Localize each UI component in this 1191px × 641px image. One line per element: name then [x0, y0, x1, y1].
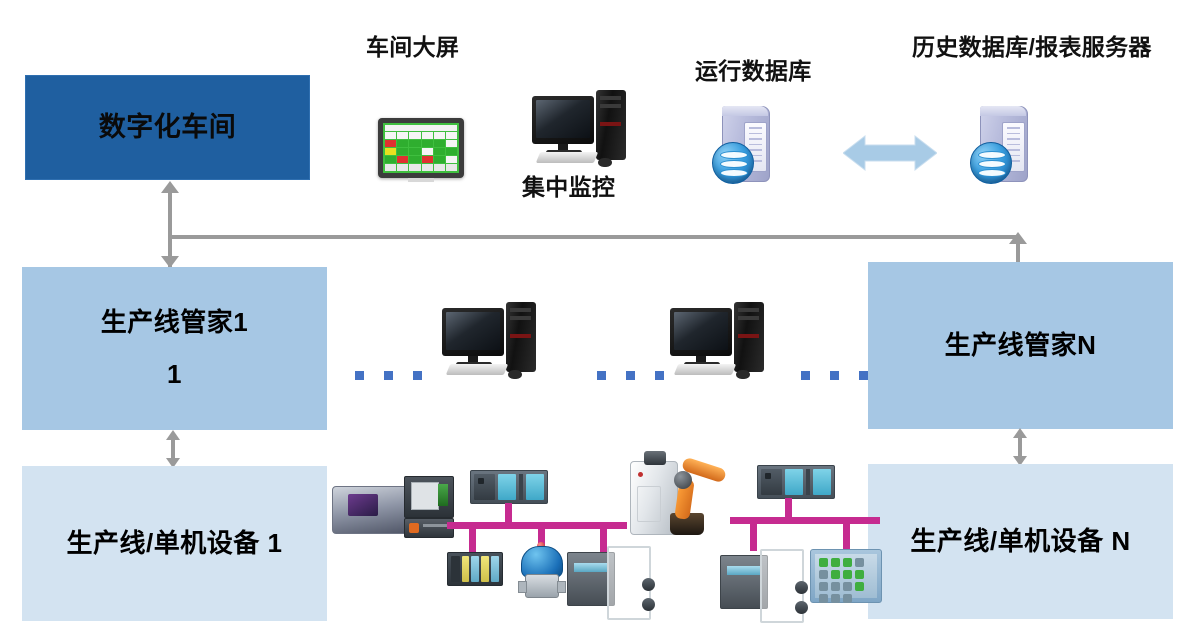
monitor-screen — [536, 100, 590, 138]
line1-label: 生产线/单机设备 1 — [67, 525, 283, 563]
box-production-line-n[interactable]: 生产线/单机设备 N — [868, 464, 1173, 619]
plc-io-module-2 — [526, 474, 544, 500]
plc-controller-icon-left — [470, 470, 548, 504]
label-central-monitor: 集中监控 — [522, 168, 615, 202]
arrowhead-up-managerN — [1009, 232, 1027, 244]
bidirectional-arrow-icon — [843, 132, 937, 174]
keyboard — [674, 364, 736, 375]
hmi-screen-surface — [383, 123, 459, 173]
pc-tower-accent — [510, 334, 531, 338]
plc-controller-icon-right — [757, 465, 835, 499]
box-production-line-1[interactable]: 生产线/单机设备 1 — [22, 466, 327, 621]
box-production-line-manager-1[interactable]: 生产线管家1 1 — [22, 267, 327, 430]
hmi-title-bar — [385, 125, 457, 131]
pc-tower-slot-1 — [600, 96, 621, 100]
cnc-control-unit — [404, 476, 454, 518]
motor-drive-icon-right — [720, 549, 802, 621]
bus-drop-drive — [750, 517, 757, 551]
database-server-icon-runtime — [712, 102, 782, 188]
diagram-canvas: 车间大屏 运行数据库 历史数据库/报表服务器 集中监控 数字化车间 — [0, 0, 1191, 641]
plc-divider — [519, 474, 523, 500]
pc-tower-slot-2 — [600, 104, 621, 108]
box-production-line-manager-n[interactable]: 生产线管家N — [868, 262, 1173, 429]
pc-tower-slot-1 — [510, 308, 531, 312]
backbone-horizontal-line — [170, 235, 1020, 239]
hmi-panel-icon — [378, 118, 464, 178]
ellipsis-dots-left — [355, 371, 422, 380]
monitor-screen — [674, 312, 728, 350]
hmi-footer-row — [385, 164, 457, 171]
hmi-stand — [408, 178, 434, 182]
server-top — [722, 106, 768, 116]
ellipsis-dots-middle — [597, 371, 664, 380]
fieldbus-network-right — [745, 465, 905, 605]
motor-drive-icon-left — [567, 546, 649, 618]
hmi-header-row — [385, 132, 457, 139]
industrial-robot-icon — [630, 455, 740, 541]
pc-tower-slot-2 — [510, 316, 531, 320]
hmi-data-row-1 — [385, 140, 457, 147]
plc-io-module-1 — [785, 469, 803, 495]
keyboard — [536, 152, 598, 163]
robot-enclosure-top — [644, 451, 666, 465]
mouse — [598, 158, 612, 167]
plc-io-module-2 — [813, 469, 831, 495]
bus-drop-operator-panel — [843, 517, 850, 551]
database-server-icon-history — [970, 102, 1040, 188]
desktop-computer-icon-monitoring — [530, 88, 640, 166]
lineN-label: 生产线/单机设备 N — [910, 523, 1130, 561]
pressure-transmitter-icon — [513, 546, 569, 598]
desktop-computer-icon-line-1 — [440, 300, 550, 378]
hmi-data-row-3 — [385, 156, 457, 163]
cnc-lathe-icon — [332, 470, 454, 540]
drive-frame — [607, 546, 651, 620]
plc-cpu-module — [474, 474, 495, 500]
pc-tower-accent — [738, 334, 759, 338]
plc-io-module-1 — [498, 474, 516, 500]
arrowhead-up-manager1-line1 — [166, 430, 180, 440]
plc-cpu-module — [761, 469, 782, 495]
pc-tower-slot-2 — [738, 316, 759, 320]
cnc-viewing-window — [348, 494, 378, 516]
desktop-computer-icon-line-n — [668, 300, 778, 378]
managerN-label: 生产线管家N — [945, 327, 1097, 365]
pc-tower-accent — [600, 122, 621, 126]
database-cylinder — [712, 142, 754, 184]
arrowhead-up-workshop — [161, 181, 179, 193]
mouse — [736, 370, 750, 379]
arrowhead-up-managerN-lineN — [1013, 428, 1027, 438]
database-cylinder — [970, 142, 1012, 184]
keyboard — [446, 364, 508, 375]
ellipsis-dots-right — [801, 371, 868, 380]
manager1-label-sub: 1 — [167, 356, 182, 394]
hmi-data-row-2 — [385, 148, 457, 155]
box-digital-workshop[interactable]: 数字化车间 — [25, 75, 310, 180]
drive-frame — [760, 549, 804, 623]
operator-panel-icon — [810, 549, 882, 603]
box-digital-workshop-label: 数字化车间 — [99, 108, 237, 147]
operator-panel-screen — [815, 554, 877, 598]
server-top — [980, 106, 1026, 116]
label-history-db: 历史数据库/报表服务器 — [912, 28, 1152, 62]
label-runtime-db: 运行数据库 — [695, 52, 812, 86]
label-hmi-screen: 车间大屏 — [366, 28, 459, 62]
manager1-label-main: 生产线管家1 — [101, 304, 248, 342]
io-module-icon — [447, 552, 503, 586]
plc-divider — [806, 469, 810, 495]
bus-drop-io — [469, 522, 476, 554]
transmitter-flange — [525, 574, 559, 598]
mouse — [508, 370, 522, 379]
robot-joint — [674, 471, 692, 489]
pc-tower-slot-1 — [738, 308, 759, 312]
monitor-screen — [446, 312, 500, 350]
